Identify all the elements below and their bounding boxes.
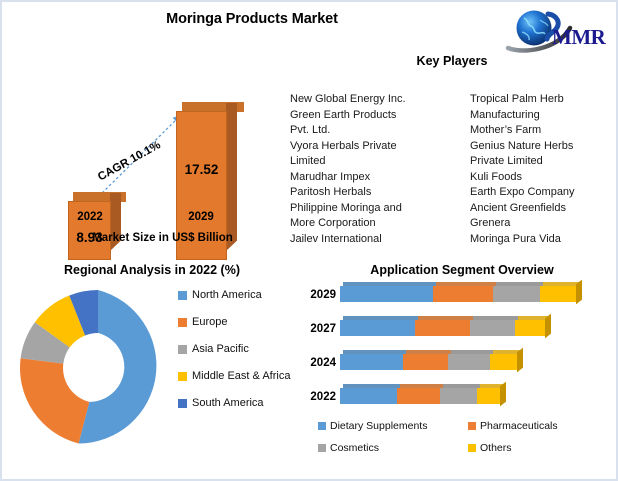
bar-label-2022: 2022 bbox=[60, 211, 120, 223]
key-player-item: Manufacturing bbox=[470, 108, 618, 124]
legend-item-europe: Europe bbox=[178, 315, 298, 329]
stack-row-2027 bbox=[340, 320, 545, 336]
stack-seg-dietary-supplements bbox=[340, 388, 397, 404]
stack-seg-top bbox=[343, 282, 436, 286]
legend-item-others: Others bbox=[468, 442, 512, 454]
legend-swatch-icon bbox=[468, 444, 476, 452]
bar-label-2029: 2029 bbox=[171, 211, 231, 223]
stack-seg-top bbox=[418, 316, 473, 320]
key-player-item: Kuli Foods bbox=[470, 170, 618, 186]
key-player-item: Philippine Moringa and bbox=[290, 201, 465, 217]
stack-seg-pharmaceuticals bbox=[397, 388, 440, 404]
key-player-item: Vyora Herbals Private bbox=[290, 139, 465, 155]
market-size-caption: Market Size in US$ Billion bbox=[40, 232, 285, 244]
legend-item-north-america: North America bbox=[178, 288, 298, 302]
key-players-left-column: New Global Energy Inc. Green Earth Produ… bbox=[290, 92, 465, 247]
stack-seg-others bbox=[515, 320, 545, 336]
legend-item-pharmaceuticals: Pharmaceuticals bbox=[468, 420, 558, 432]
key-player-item: Paritosh Herbals bbox=[290, 185, 465, 201]
stack-seg-dietary-supplements bbox=[340, 286, 433, 302]
key-player-item: Moringa Pura Vida bbox=[470, 232, 618, 248]
key-player-item: Genius Nature Herbs bbox=[470, 139, 618, 155]
donut-svg bbox=[14, 284, 182, 456]
logo-wordmark: MMR bbox=[552, 25, 605, 50]
legend-item-cosmetics: Cosmetics bbox=[318, 442, 379, 454]
stack-seg-top bbox=[343, 384, 400, 388]
legend-swatch-icon bbox=[178, 345, 187, 354]
legend-item-south-america: South America bbox=[178, 396, 298, 410]
legend-label: Dietary Supplements bbox=[330, 420, 427, 432]
legend-label: South America bbox=[192, 396, 264, 410]
market-size-chart: CAGR 10.1% 8.93 17.52 2022 2029 Market S… bbox=[40, 80, 285, 260]
stack-row-2029 bbox=[340, 286, 580, 302]
stack-seg-pharmaceuticals bbox=[403, 354, 448, 370]
legend-row: Dietary Supplements Pharmaceuticals bbox=[310, 420, 610, 442]
application-segment-legend: Dietary Supplements Pharmaceuticals Cosm… bbox=[310, 420, 610, 464]
stack-seg-top bbox=[406, 350, 451, 354]
infographic-canvas: Moringa Products Market MMR bbox=[0, 0, 618, 481]
stack-seg-pharmaceuticals bbox=[433, 286, 493, 302]
stack-seg-top bbox=[543, 282, 579, 286]
legend-swatch-icon bbox=[468, 422, 476, 430]
regional-analysis-title: Regional Analysis in 2022 (%) bbox=[12, 263, 292, 277]
stack-seg-cap bbox=[545, 314, 551, 339]
key-player-item: Pvt. Ltd. bbox=[290, 123, 465, 139]
stack-row-2024 bbox=[340, 354, 517, 370]
page-title: Moringa Products Market bbox=[2, 11, 502, 27]
legend-label: Pharmaceuticals bbox=[480, 420, 558, 432]
stack-seg-top bbox=[436, 282, 496, 286]
legend-label: Asia Pacific bbox=[192, 342, 249, 356]
stack-seg-cap bbox=[576, 280, 582, 305]
stack-year-label-2022: 2022 bbox=[302, 391, 336, 403]
legend-swatch-icon bbox=[178, 372, 187, 381]
key-player-item: Mother’s Farm bbox=[470, 123, 618, 139]
stack-seg-cosmetics bbox=[493, 286, 540, 302]
stack-seg-others bbox=[477, 388, 500, 404]
legend-swatch-icon bbox=[178, 318, 187, 327]
key-player-item: New Global Energy Inc. bbox=[290, 92, 465, 108]
stack-seg-cap bbox=[500, 382, 506, 407]
key-player-item: Marudhar Impex bbox=[290, 170, 465, 186]
key-player-item: Limited bbox=[290, 154, 465, 170]
stack-seg-cosmetics bbox=[470, 320, 515, 336]
key-player-item: Earth Expo Company bbox=[470, 185, 618, 201]
stack-seg-top bbox=[451, 350, 493, 354]
stack-seg-others bbox=[540, 286, 576, 302]
legend-item-dietary-supplements: Dietary Supplements bbox=[318, 420, 427, 432]
stack-year-label-2029: 2029 bbox=[302, 289, 336, 301]
key-player-item: More Corporation bbox=[290, 216, 465, 232]
stack-seg-top bbox=[518, 316, 548, 320]
stack-seg-top bbox=[343, 316, 418, 320]
application-segment-chart: 2029 2027 2024 bbox=[302, 280, 614, 415]
legend-item-asia-pacific: Asia Pacific bbox=[178, 342, 298, 356]
key-player-item: Jailev International bbox=[290, 232, 465, 248]
legend-row: Cosmetics Others bbox=[310, 442, 610, 464]
key-players-heading: Key Players bbox=[302, 54, 602, 68]
stack-row-2022 bbox=[340, 388, 500, 404]
key-player-item: Private Limited bbox=[470, 154, 618, 170]
stack-seg-cosmetics bbox=[440, 388, 477, 404]
bar-value-2029: 17.52 bbox=[176, 162, 227, 177]
stack-seg-cosmetics bbox=[448, 354, 490, 370]
key-player-item: Green Earth Products bbox=[290, 108, 465, 124]
stack-seg-dietary-supplements bbox=[340, 354, 403, 370]
regional-legend: North America Europe Asia Pacific Middle… bbox=[178, 288, 298, 423]
regional-donut-chart bbox=[14, 284, 182, 456]
key-players-right-column: Tropical Palm Herb Manufacturing Mother’… bbox=[470, 92, 618, 247]
bar-2022 bbox=[68, 192, 121, 260]
legend-swatch-icon bbox=[178, 291, 187, 300]
legend-swatch-icon bbox=[178, 399, 187, 408]
donut-slice-europe bbox=[20, 358, 89, 443]
stack-seg-dietary-supplements bbox=[340, 320, 415, 336]
legend-label: Others bbox=[480, 442, 512, 454]
legend-label: North America bbox=[192, 288, 262, 302]
stack-seg-top bbox=[343, 350, 406, 354]
key-player-item: Grenera bbox=[470, 216, 618, 232]
legend-label: Cosmetics bbox=[330, 442, 379, 454]
stack-seg-pharmaceuticals bbox=[415, 320, 470, 336]
legend-swatch-icon bbox=[318, 422, 326, 430]
stack-seg-top bbox=[443, 384, 480, 388]
application-segment-title: Application Segment Overview bbox=[312, 263, 612, 277]
legend-label: Europe bbox=[192, 315, 227, 329]
mmr-logo: MMR bbox=[500, 6, 615, 54]
stack-seg-others bbox=[490, 354, 517, 370]
legend-swatch-icon bbox=[318, 444, 326, 452]
stack-seg-top bbox=[473, 316, 518, 320]
legend-item-middle-east-africa: Middle East & Africa bbox=[178, 369, 298, 383]
stack-seg-cap bbox=[517, 348, 523, 373]
key-player-item: Tropical Palm Herb bbox=[470, 92, 618, 108]
stack-seg-top bbox=[496, 282, 543, 286]
stack-seg-top bbox=[400, 384, 443, 388]
stack-year-label-2027: 2027 bbox=[302, 323, 336, 335]
bar-side-face bbox=[226, 103, 237, 251]
stack-seg-top bbox=[493, 350, 520, 354]
legend-label: Middle East & Africa bbox=[192, 369, 290, 383]
key-player-item: Ancient Greenfields bbox=[470, 201, 618, 217]
stack-year-label-2024: 2024 bbox=[302, 357, 336, 369]
